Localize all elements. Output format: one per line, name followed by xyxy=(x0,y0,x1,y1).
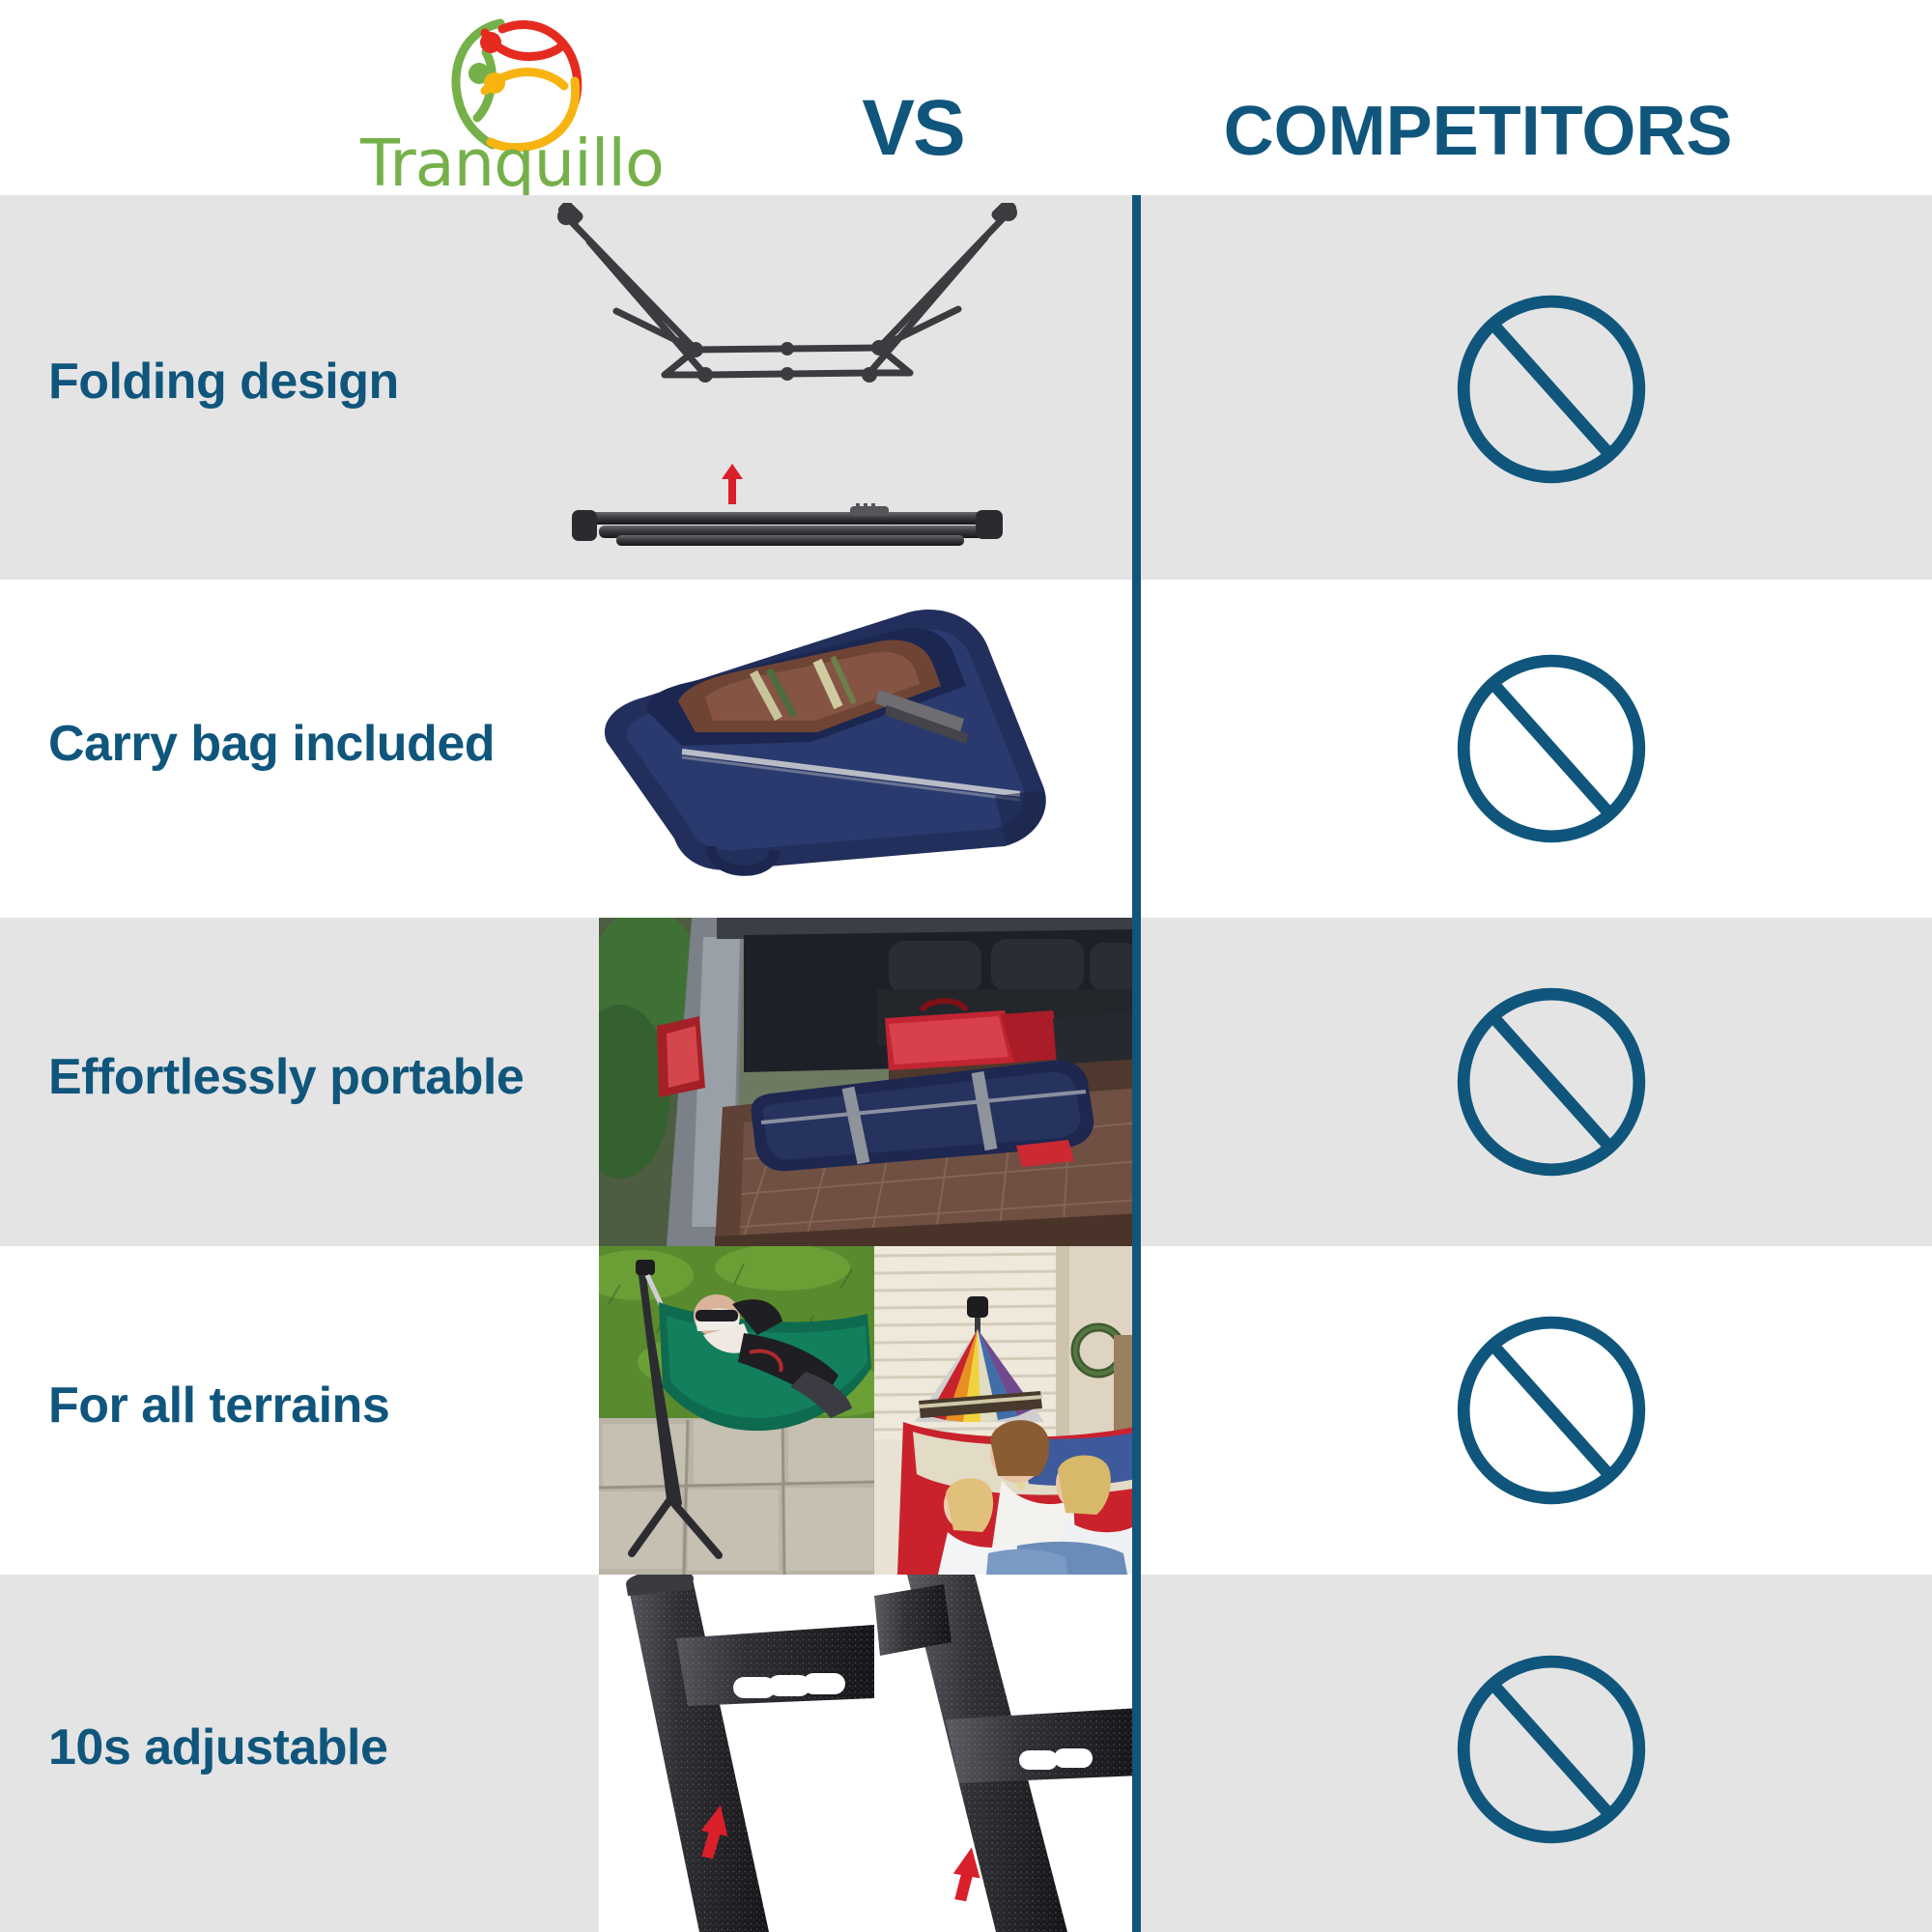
vs-label: VS xyxy=(826,89,1000,168)
row-label-10s-adjustable: 10s adjustable xyxy=(48,1721,387,1775)
not-available-icon xyxy=(1446,1305,1657,1516)
fold-up-arrow-icon xyxy=(720,464,745,504)
adjustable-tube-clamp-closeup-right xyxy=(874,1575,1140,1932)
not-available-icon xyxy=(1446,284,1657,495)
bag-in-car-trunk-photo xyxy=(599,918,1140,1246)
row-label-for-all-terrains: For all terrains xyxy=(48,1379,389,1433)
not-available-icon xyxy=(1446,977,1657,1187)
green-hammock-outdoors-photo xyxy=(599,1246,874,1575)
brand-wordmark: Tranquillo xyxy=(357,131,667,196)
not-available-icon xyxy=(1446,1644,1657,1855)
folded-stand-bundle-illustration xyxy=(570,502,1005,551)
adjustable-tube-clamp-closeup-left xyxy=(599,1575,874,1932)
folding-hammock-stand-illustration xyxy=(551,203,1024,454)
row-label-carry-bag-included: Carry bag included xyxy=(48,718,495,771)
competitors-label: COMPETITORS xyxy=(1043,97,1913,166)
not-available-icon xyxy=(1446,643,1657,854)
row-label-effortlessly-portable: Effortlessly portable xyxy=(48,1051,524,1104)
brand-logo: Tranquillo xyxy=(357,8,667,195)
header: Tranquillo VS COMPETITORS xyxy=(0,0,1932,195)
row-label-folding-design: Folding design xyxy=(48,355,399,409)
rainbow-hammock-indoors-photo xyxy=(874,1246,1140,1575)
vertical-divider xyxy=(1132,195,1141,1932)
navy-carry-bag-photo xyxy=(589,597,1072,877)
